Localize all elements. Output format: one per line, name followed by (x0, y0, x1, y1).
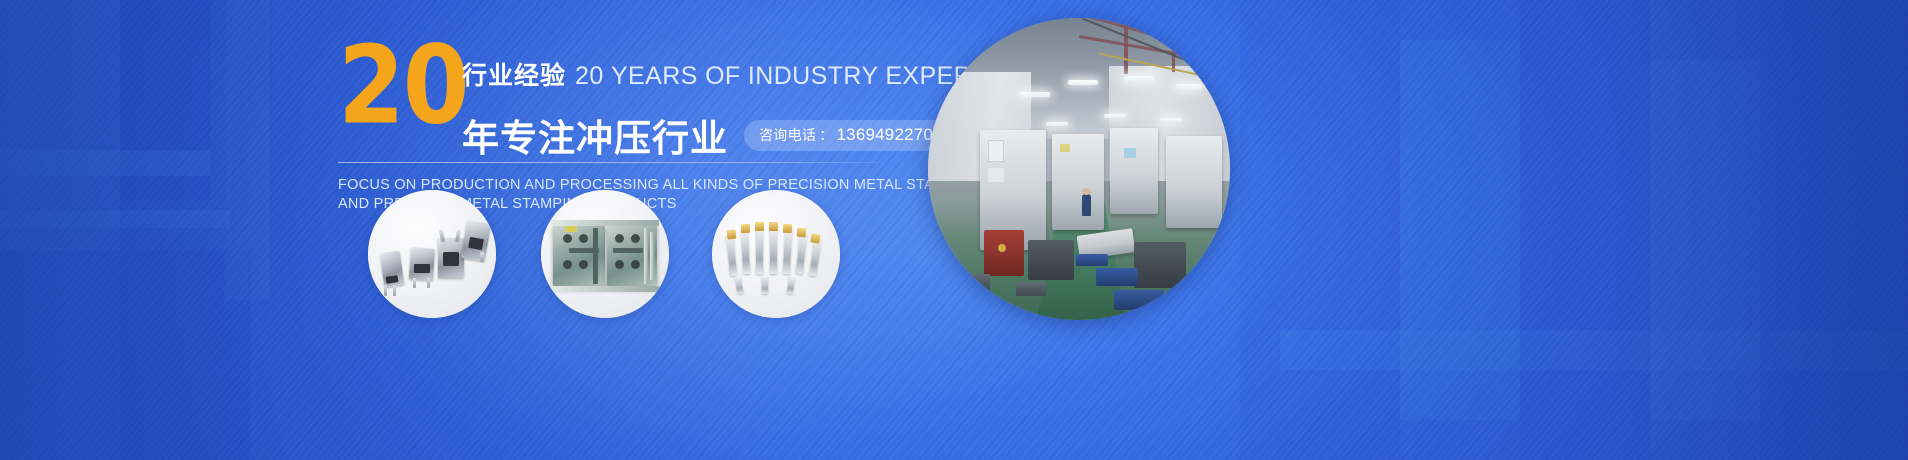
phone-number: 13694922701 (837, 125, 943, 145)
product-circle-mold (541, 190, 669, 318)
headline-block: 20 行业经验20 YEARS OF INDUSTRY EXPERIENCE 年… (338, 36, 898, 106)
headline-divider (338, 162, 878, 163)
promo-banner: 20 行业经验20 YEARS OF INDUSTRY EXPERIENCE 年… (0, 0, 1908, 460)
cn-experience-label: 行业经验 (462, 61, 566, 90)
product-circle-connectors (368, 190, 496, 318)
phone-separator: ： (817, 125, 835, 145)
factory-photo-circle (928, 18, 1230, 320)
cn-focus-label: 年专注冲压行业 (462, 108, 728, 162)
years-number: 20 (338, 32, 468, 140)
headline-line-2: 年专注冲压行业 咨询电话：13694922701 (462, 108, 958, 162)
product-circle-pins (712, 190, 840, 318)
headline-line-1: 20 行业经验20 YEARS OF INDUSTRY EXPERIENCE (338, 36, 898, 106)
consult-phone-badge[interactable]: 咨询电话：13694922701 (744, 120, 958, 151)
phone-label: 咨询电话 (759, 125, 816, 145)
